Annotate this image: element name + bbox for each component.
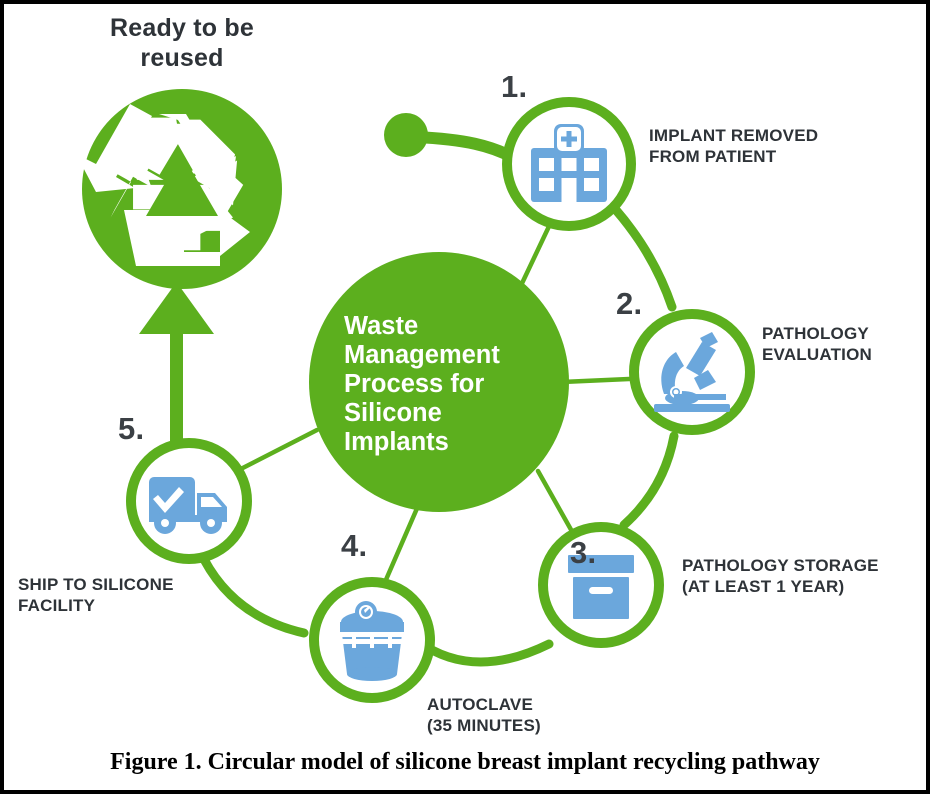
center-line-0: Waste [344,312,418,340]
arc-2-3 [624,436,674,525]
figure-caption: Figure 1. Circular model of silicone bre… [4,749,926,776]
spoke-5 [231,430,317,474]
step-2-number: 2. [616,285,642,323]
step-1-number: 1. [501,68,527,106]
step-1-label-line2: FROM PATIENT [649,147,818,168]
step-5-label: SHIP TO SILICONE FACILITY [18,575,174,616]
step-4-number: 4. [341,527,367,565]
arc-3-4 [419,642,549,662]
entry-dot [384,113,428,157]
step-1-label-line1: IMPLANT REMOVED [649,126,818,147]
step-node-2[interactable] [634,314,750,430]
spoke-2 [562,379,629,382]
step-3-label-line1: PATHOLOGY STORAGE [682,556,879,577]
step-2-circle [634,314,750,430]
arc-4-5 [199,549,304,633]
center-line-3: Silicone [344,399,442,427]
step-node-4[interactable] [314,582,430,698]
step-4-label: AUTOCLAVE (35 MINUTES) [427,695,541,736]
reuse-node[interactable] [76,89,282,289]
cycle-diagram: Waste Management Process for Silicone Im… [4,4,930,794]
reuse-title-line2: reused [62,44,302,74]
center-line-4: Implants [344,428,449,456]
center-hub[interactable]: Waste Management Process for Silicone Im… [309,252,569,512]
reuse-title: Ready to be reused [62,14,302,73]
step-5-label-line1: SHIP TO SILICONE [18,575,174,596]
step-1-label: IMPLANT REMOVED FROM PATIENT [649,126,818,167]
center-line-1: Management [344,341,500,369]
step-4-label-line1: AUTOCLAVE [427,695,541,716]
step-3-label: PATHOLOGY STORAGE (AT LEAST 1 YEAR) [682,556,879,597]
reuse-title-line1: Ready to be [62,14,302,44]
step-node-1[interactable] [507,102,631,226]
step-2-label-line1: PATHOLOGY [762,324,872,345]
step-3-label-line2: (AT LEAST 1 YEAR) [682,577,879,598]
arrow-head [139,282,214,334]
step-2-label: PATHOLOGY EVALUATION [762,324,872,365]
step-5-number: 5. [118,410,144,448]
center-line-2: Process for [344,370,484,398]
step-node-3[interactable] [543,527,659,643]
figure-frame: Waste Management Process for Silicone Im… [0,0,930,794]
step-3-number: 3. [570,534,596,572]
spoke-3 [538,471,574,535]
step-4-label-line2: (35 MINUTES) [427,716,541,737]
step-5-label-line2: FACILITY [18,596,174,617]
step-node-5[interactable] [131,443,247,559]
step-2-label-line2: EVALUATION [762,345,872,366]
